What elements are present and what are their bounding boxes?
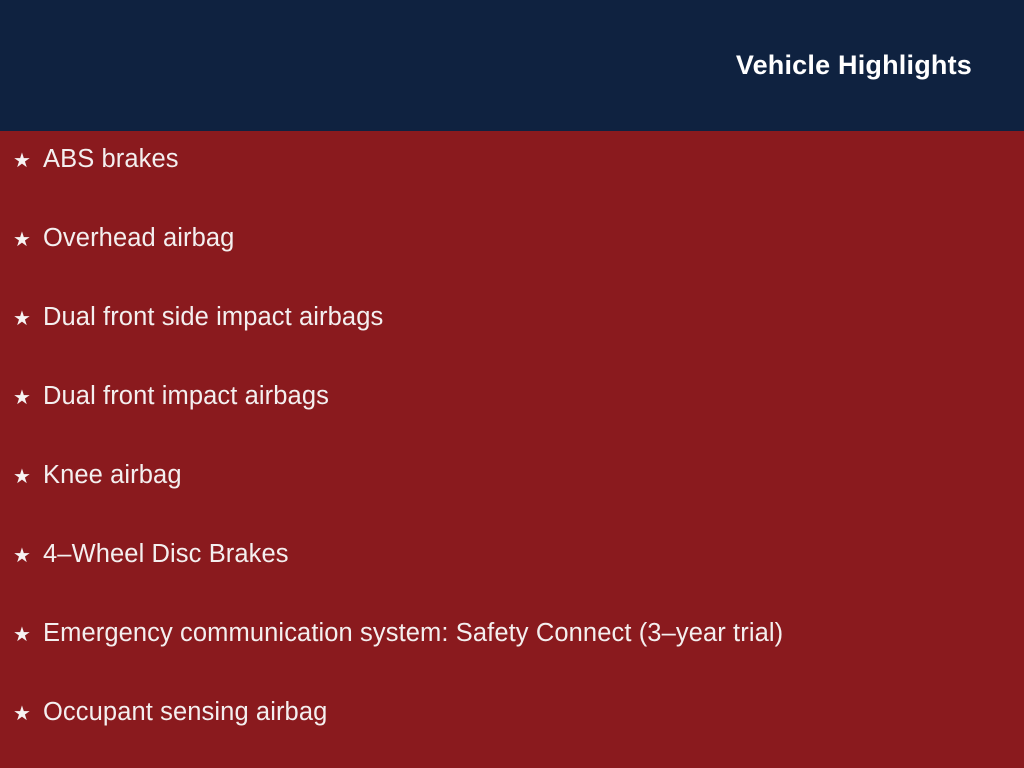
star-icon: ★ <box>13 388 43 408</box>
list-item-label: Dual front impact airbags <box>43 382 1024 410</box>
list-item: ★ ABS brakes <box>0 145 1024 224</box>
list-item: ★ 4–Wheel Disc Brakes <box>0 540 1024 619</box>
slide-body: ★ ABS brakes ★ Overhead airbag ★ Dual fr… <box>0 131 1024 768</box>
star-icon: ★ <box>13 704 43 724</box>
list-item: ★ Emergency communication system: Safety… <box>0 619 1024 698</box>
star-icon: ★ <box>13 230 43 250</box>
list-item-label: 4–Wheel Disc Brakes <box>43 540 1024 568</box>
slide-header: Vehicle Highlights <box>0 0 1024 131</box>
star-icon: ★ <box>13 546 43 566</box>
vehicle-highlights-list: ★ ABS brakes ★ Overhead airbag ★ Dual fr… <box>0 145 1024 768</box>
list-item-label: Knee airbag <box>43 461 1024 489</box>
star-icon: ★ <box>13 467 43 487</box>
list-item: ★ Occupant sensing airbag <box>0 698 1024 768</box>
list-item-label: ABS brakes <box>43 145 1024 173</box>
page-title: Vehicle Highlights <box>736 52 972 79</box>
star-icon: ★ <box>13 625 43 645</box>
list-item: ★ Overhead airbag <box>0 224 1024 303</box>
list-item-label: Overhead airbag <box>43 224 1024 252</box>
list-item-label: Occupant sensing airbag <box>43 698 1024 726</box>
star-icon: ★ <box>13 151 43 171</box>
star-icon: ★ <box>13 309 43 329</box>
list-item: ★ Dual front impact airbags <box>0 382 1024 461</box>
list-item: ★ Knee airbag <box>0 461 1024 540</box>
vehicle-highlights-slide: Vehicle Highlights ★ ABS brakes ★ Overhe… <box>0 0 1024 768</box>
list-item-label: Dual front side impact airbags <box>43 303 1024 331</box>
list-item: ★ Dual front side impact airbags <box>0 303 1024 382</box>
list-item-label: Emergency communication system: Safety C… <box>43 619 1024 647</box>
